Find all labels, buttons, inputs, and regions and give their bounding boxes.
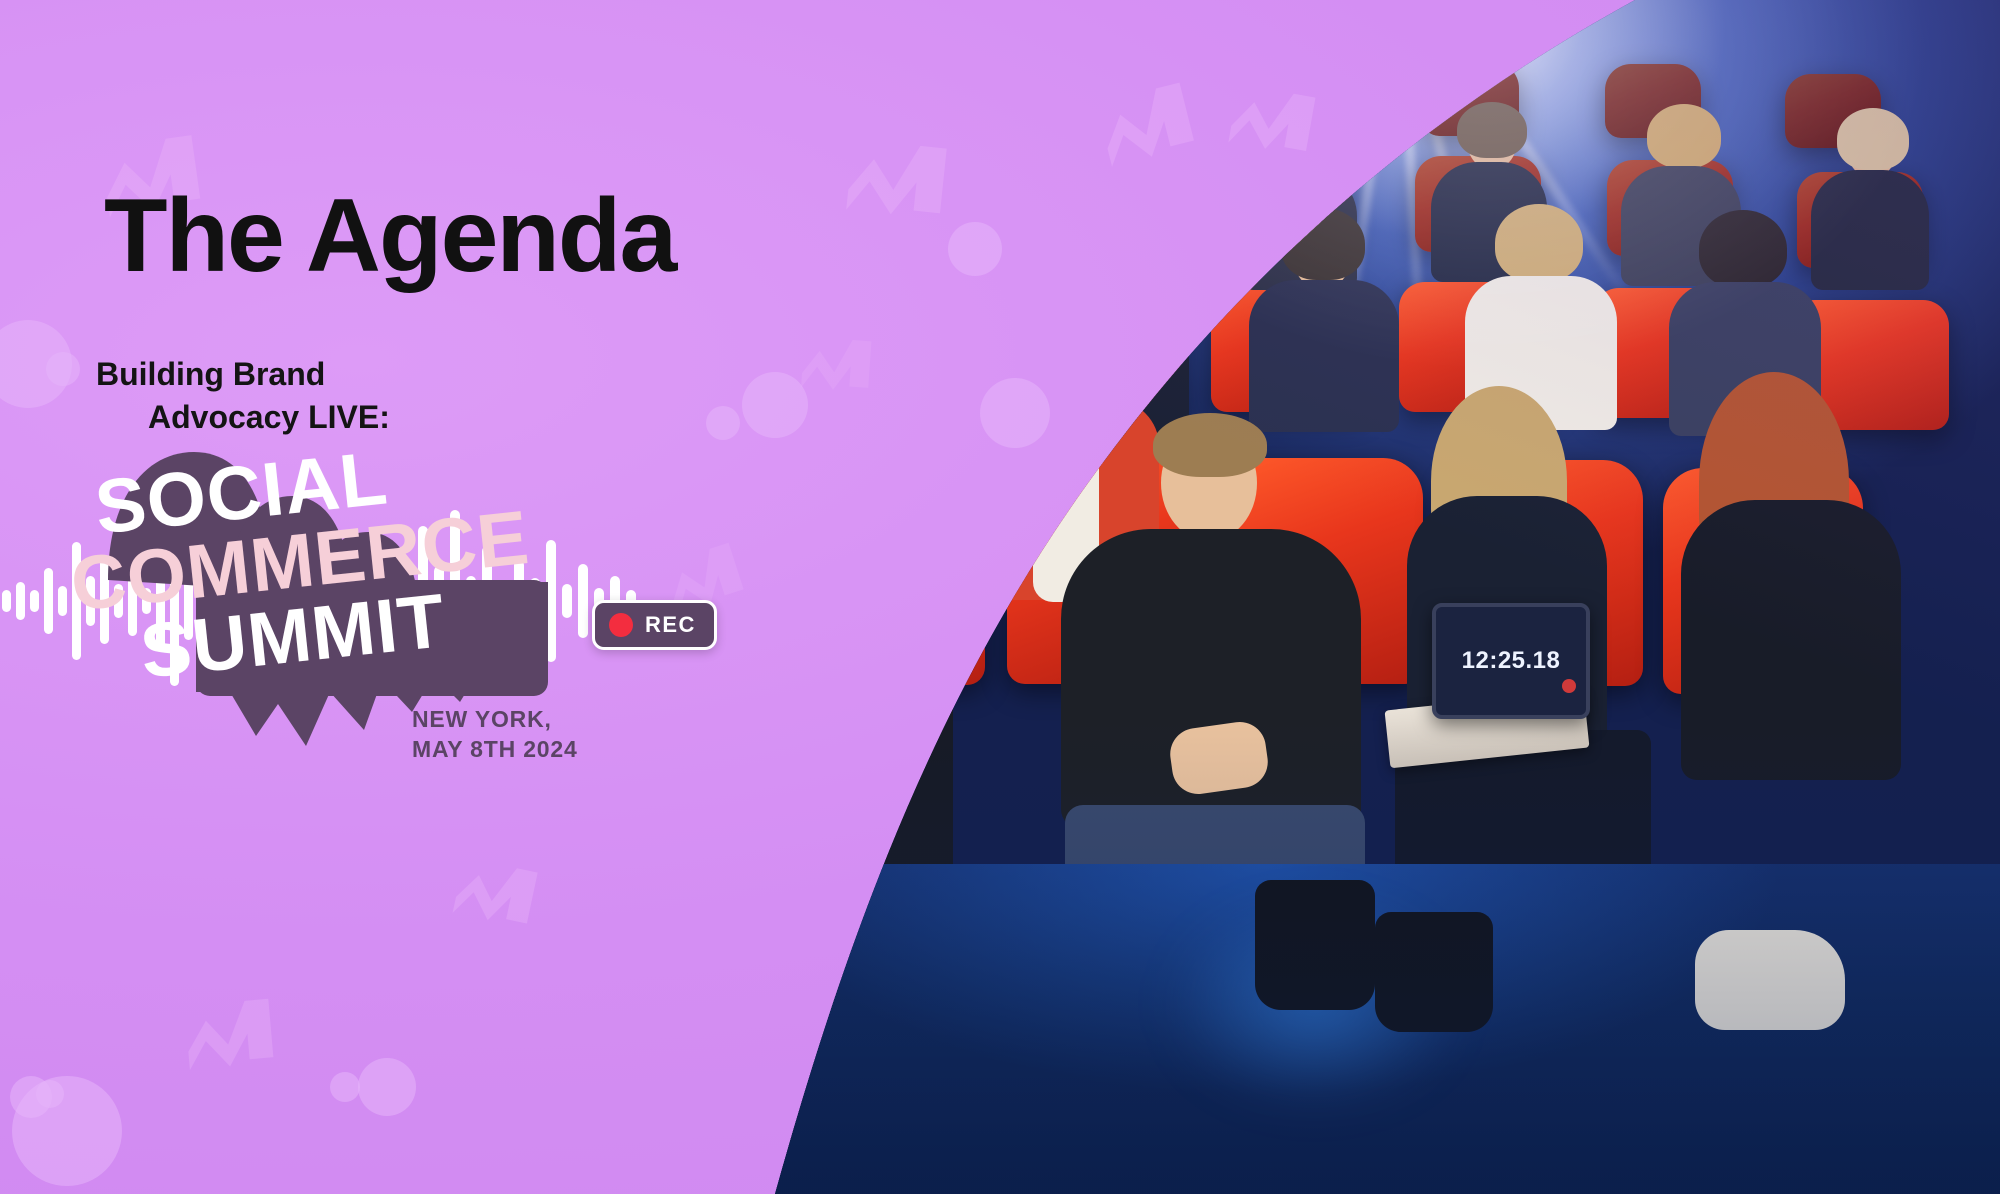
page-title: The Agenda <box>104 182 675 291</box>
rec-label: REC <box>645 612 696 638</box>
tablet-record-dot <box>1562 679 1576 693</box>
venue-date-value: MAY 8TH 2024 <box>412 735 578 765</box>
tablet-device: 12:25.18 <box>1432 603 1590 719</box>
tablet-timer-display: 12:25.18 <box>1462 647 1561 675</box>
boot <box>1255 880 1375 1010</box>
venue-city: NEW YORK, <box>412 705 578 735</box>
agenda-slide: 12:25.18 The Agenda Building Brand Advoc… <box>0 0 2000 1194</box>
record-dot-icon <box>609 613 633 637</box>
venue-date: NEW YORK, MAY 8TH 2024 <box>412 705 578 765</box>
sneaker <box>1695 930 1845 1030</box>
subtitle-line-1: Building Brand <box>96 356 325 392</box>
boot <box>1375 912 1493 1032</box>
rec-badge: REC <box>592 600 717 650</box>
